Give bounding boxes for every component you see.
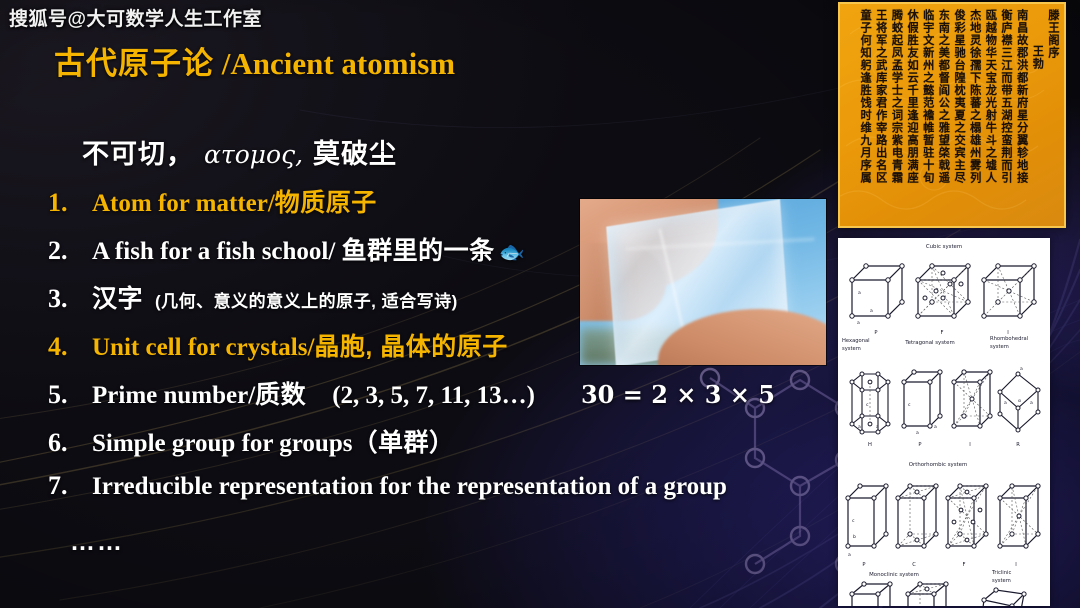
- list-item-number: 2.: [48, 236, 92, 266]
- calligraphy-columns: 滕王阁序 王勃 南昌故郡洪都新府星分翼轸地接 衡庐襟三江而带五湖控蛮荆而引 瓯越…: [840, 4, 1064, 226]
- svg-text:a: a: [857, 321, 860, 326]
- list-item-cn: 晶胞, 晶体的原子: [314, 333, 507, 361]
- subtitle-cn-after: 莫破尘: [313, 139, 397, 169]
- list-item-cn: 汉字: [92, 285, 143, 313]
- calligraphy-column: 南昌故郡洪都新府星分翼轸地接: [1013, 9, 1029, 184]
- calligraphy-column: 衡庐襟三江而带五湖控蛮荆而引: [997, 9, 1013, 184]
- svg-text:H: H: [868, 442, 872, 448]
- subtitle-cn-before: 不可切，: [82, 139, 194, 169]
- calligraphy-column: 瓯越物华天宝龙光射牛斗之墟人: [982, 9, 998, 184]
- list-item-en: Irreducible representation for the repre…: [92, 473, 727, 500]
- svg-text:Monoclinic system: Monoclinic system: [869, 572, 919, 578]
- svg-text:a: a: [870, 309, 873, 314]
- list-item-number: 7.: [48, 471, 92, 501]
- list-item-cn: 质数: [255, 381, 306, 409]
- svg-text:system: system: [992, 578, 1011, 584]
- svg-text:c: c: [866, 403, 869, 408]
- svg-text:Orthorhombic system: Orthorhombic system: [909, 462, 967, 468]
- page-title-cn: 古代原子论: [54, 46, 214, 81]
- list-item-cn: 鱼群里的一条: [342, 237, 495, 265]
- svg-text:F: F: [963, 562, 966, 568]
- list-item-cn: 物质原子: [275, 189, 377, 217]
- calligraphy-column: 俊彩星驰台隍枕夷夏之交宾主尽: [950, 9, 966, 184]
- calligraphy-column: 腾蛟起凤孟学士之词宗紫电青霜: [888, 9, 904, 184]
- list-item-number: 5.: [48, 380, 92, 410]
- crystal-photo: [580, 199, 826, 365]
- svg-text:R: R: [1016, 442, 1020, 448]
- lattice-svg: Cubic system a a a P F: [838, 238, 1050, 606]
- list-item-number: 6.: [48, 428, 92, 458]
- svg-text:c: c: [852, 519, 855, 524]
- list-item-cn: （单群）: [352, 429, 454, 457]
- svg-text:a: a: [1020, 367, 1023, 372]
- svg-text:I: I: [969, 442, 971, 448]
- svg-text:Rhombohedral: Rhombohedral: [990, 336, 1028, 342]
- subtitle: 不可切， ατομος, 莫破尘: [82, 132, 397, 171]
- calligraphy-column: 童子何知躬逢胜饯时维九月序属: [856, 9, 872, 184]
- list-item-number: 1.: [48, 188, 92, 218]
- slide-canvas: 搜狐号@大可数学人生工作室 古代原子论 /Ancient atomism 不可切…: [0, 0, 1080, 608]
- svg-text:system: system: [990, 344, 1009, 350]
- svg-text:Cubic system: Cubic system: [926, 244, 962, 250]
- svg-text:C: C: [912, 562, 916, 568]
- svg-text:a: a: [848, 553, 851, 558]
- list-item-math: 30 = 2 × 3 × 5: [581, 380, 775, 409]
- list-item-en: A fish for a fish school/: [92, 238, 342, 265]
- list-item: 5. Prime number/质数(2, 3, 5, 7, 11, 13…)3…: [48, 375, 838, 423]
- svg-text:a: a: [934, 425, 937, 430]
- svg-text:P: P: [862, 562, 865, 568]
- svg-text:Triclinic: Triclinic: [991, 570, 1011, 576]
- list-item-number: 4.: [48, 332, 92, 362]
- svg-text:Hexagonal: Hexagonal: [842, 338, 870, 344]
- list-item-en: Simple group for groups: [92, 430, 352, 457]
- svg-text:a: a: [858, 291, 861, 296]
- svg-text:P: P: [874, 330, 877, 336]
- subtitle-greek-term: ατομος,: [198, 140, 309, 169]
- watermark-text: 搜狐号@大可数学人生工作室: [9, 4, 262, 31]
- bravais-lattice-diagram: Cubic system a a a P F: [838, 238, 1050, 606]
- svg-text:I: I: [1015, 562, 1017, 568]
- calligraphy-column: 王勃: [1029, 45, 1045, 70]
- svg-text:a: a: [1004, 401, 1007, 406]
- svg-text:α: α: [1018, 399, 1021, 404]
- list-item-number: 3.: [48, 284, 92, 314]
- list-item-en: Prime number/: [92, 382, 255, 409]
- svg-text:a: a: [1030, 401, 1033, 406]
- calligraphy-image: 滕王阁序 王勃 南昌故郡洪都新府星分翼轸地接 衡庐襟三江而带五湖控蛮荆而引 瓯越…: [838, 2, 1066, 228]
- page-title: 古代原子论 /Ancient atomism: [54, 38, 455, 83]
- calligraphy-column: 杰地灵徐孺下陈蕃之榻雄州雾列: [966, 9, 982, 184]
- page-title-en: /Ancient atomism: [222, 46, 455, 81]
- svg-text:c: c: [908, 403, 911, 408]
- calligraphy-column: 滕王阁序: [1044, 9, 1060, 59]
- list-item-en: Unit cell for crystals/: [92, 334, 314, 361]
- svg-text:system: system: [842, 346, 861, 352]
- calligraphy-column: 休假胜友如云千里逢迎高朋满座: [903, 9, 919, 184]
- list-item: 6. Simple group for groups（单群）: [48, 423, 838, 471]
- list-item: 7. Irreducible representation for the re…: [48, 471, 838, 519]
- svg-text:a: a: [916, 431, 919, 436]
- svg-text:a: a: [858, 425, 861, 430]
- svg-text:P: P: [918, 442, 921, 448]
- list-item-paren: (2, 3, 5, 7, 11, 13…): [332, 382, 535, 409]
- list-item-en: Atom for matter/: [92, 190, 275, 217]
- calligraphy-column: 东南之美都督阎公之雅望棨戟遥: [935, 9, 951, 184]
- svg-text:Tetragonal system: Tetragonal system: [904, 340, 954, 346]
- fish-icon: 🐟: [495, 240, 525, 264]
- calligraphy-column: 王将军之武库家君作宰路出名区: [872, 9, 888, 184]
- list-ellipsis: ……: [70, 528, 124, 557]
- svg-text:b: b: [853, 534, 856, 540]
- svg-text:F: F: [941, 330, 944, 336]
- svg-text:a: a: [876, 425, 879, 430]
- list-item-note: (几何、意义的意义上的原子, 适合写诗): [143, 292, 458, 311]
- calligraphy-column: 临宇文新州之懿范襜帷暂驻十旬: [919, 9, 935, 184]
